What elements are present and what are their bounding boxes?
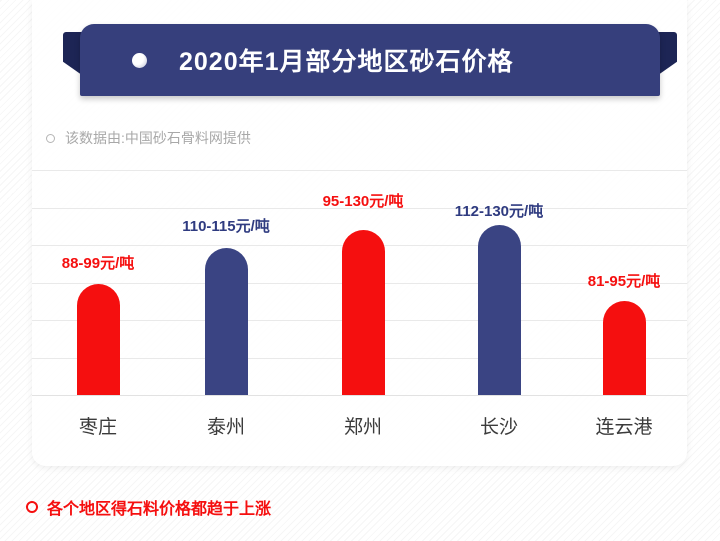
- page-title: 2020年1月部分地区砂石价格: [179, 42, 514, 78]
- bar: [603, 301, 646, 396]
- category-label: 长沙: [480, 412, 518, 439]
- category-label: 泰州: [207, 412, 245, 439]
- bar-value-label: 81-95元/吨: [588, 270, 661, 291]
- bar-value-label: 95-130元/吨: [323, 190, 404, 211]
- bar: [478, 225, 521, 396]
- bar-value-label: 110-115元/吨: [182, 215, 270, 236]
- dot-icon: [132, 53, 147, 68]
- category-label: 连云港: [595, 412, 652, 439]
- source-note: 该数据由:中国砂石骨料网提供: [46, 128, 251, 148]
- x-axis-baseline: [32, 395, 687, 396]
- page-background: 2020年1月部分地区砂石价格 该数据由:中国砂石骨料网提供 各个地区得石料价格…: [0, 0, 720, 541]
- footer-note-text: 各个地区得石料价格都趋于上涨: [47, 495, 271, 519]
- bar: [77, 284, 120, 396]
- bar: [342, 230, 385, 396]
- category-label: 枣庄: [79, 412, 117, 439]
- footer-note: 各个地区得石料价格都趋于上涨: [26, 495, 271, 519]
- circle-bullet-icon: [46, 134, 55, 143]
- circle-bullet-icon: [26, 501, 38, 513]
- title-ribbon: 2020年1月部分地区砂石价格: [63, 24, 677, 96]
- bar-value-label: 112-130元/吨: [455, 200, 543, 221]
- bar: [205, 248, 248, 396]
- gridline: [32, 170, 687, 171]
- category-label: 郑州: [344, 412, 382, 439]
- title-banner: 2020年1月部分地区砂石价格: [80, 24, 660, 96]
- source-note-text: 该数据由:中国砂石骨料网提供: [65, 128, 251, 148]
- bar-value-label: 88-99元/吨: [62, 252, 135, 273]
